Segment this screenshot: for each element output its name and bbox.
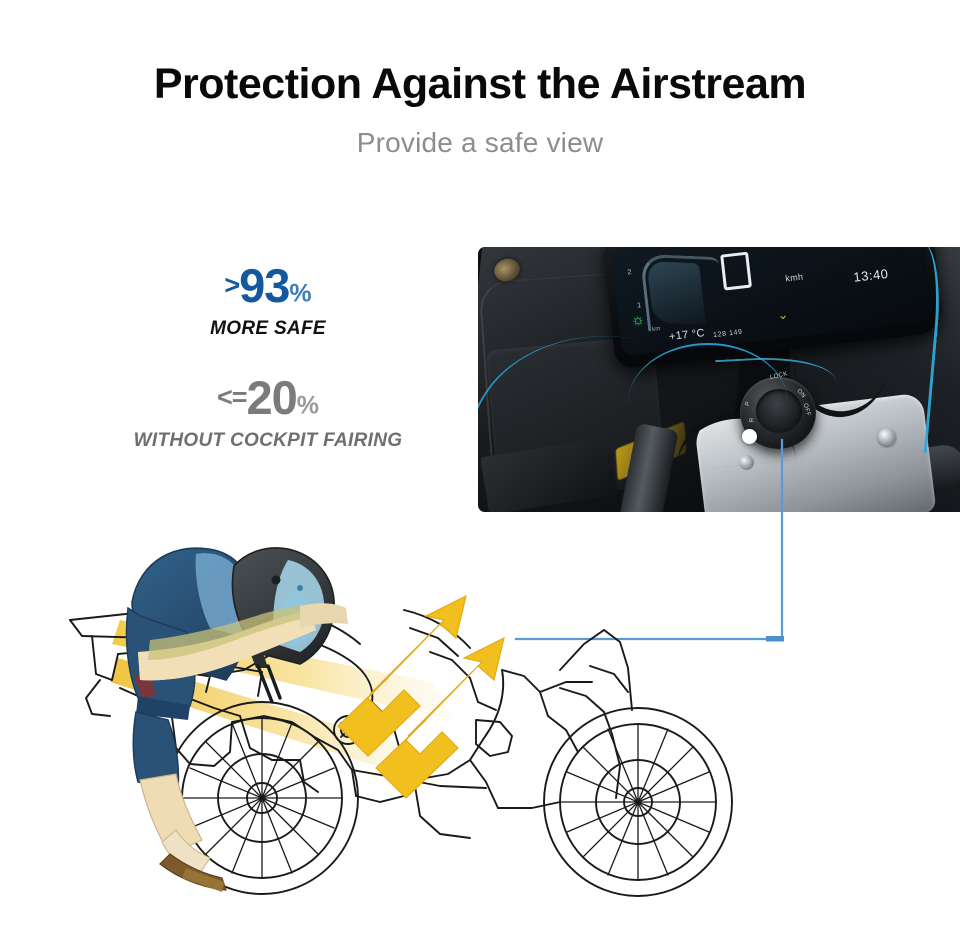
odometer-label: km (652, 326, 661, 333)
chevron-down-icon: ⌄ (777, 308, 789, 322)
temperature-readout: +17 °C (668, 327, 705, 343)
page-subtitle: Provide a safe view (0, 127, 960, 159)
stat-unit: % (289, 280, 311, 308)
header: Protection Against the Airstream Provide… (0, 0, 960, 159)
stat-caption: MORE SAFE (108, 318, 428, 340)
page-title: Protection Against the Airstream (0, 62, 960, 107)
stat-figure: >93% (108, 262, 428, 309)
speed-unit: kmh (785, 272, 804, 284)
knob-label-off: OFF (802, 403, 812, 417)
low-beam-icon: ☼ (630, 312, 645, 328)
rider-airstream-diagram (0, 430, 960, 932)
tachometer-fill (646, 261, 706, 325)
tach-tick-1: 1 (637, 302, 642, 309)
stat-unit: % (297, 392, 319, 420)
stat-value: 20 (247, 371, 297, 424)
stat-figure: <=20% (108, 374, 428, 421)
stat-value: 93 (239, 259, 289, 312)
tach-tick-2: 2 (627, 269, 632, 276)
stat-more-safe: >93% MORE SAFE (108, 262, 428, 340)
product-feature-page: Protection Against the Airstream Provide… (0, 0, 960, 932)
stat-operator: > (224, 270, 239, 300)
knob-label-r: R (749, 417, 755, 422)
speed-digit-frame (720, 252, 752, 291)
stats-block: >93% MORE SAFE <=20% WITHOUT COCKPIT FAI… (108, 262, 428, 452)
stat-operator: <= (217, 382, 247, 412)
